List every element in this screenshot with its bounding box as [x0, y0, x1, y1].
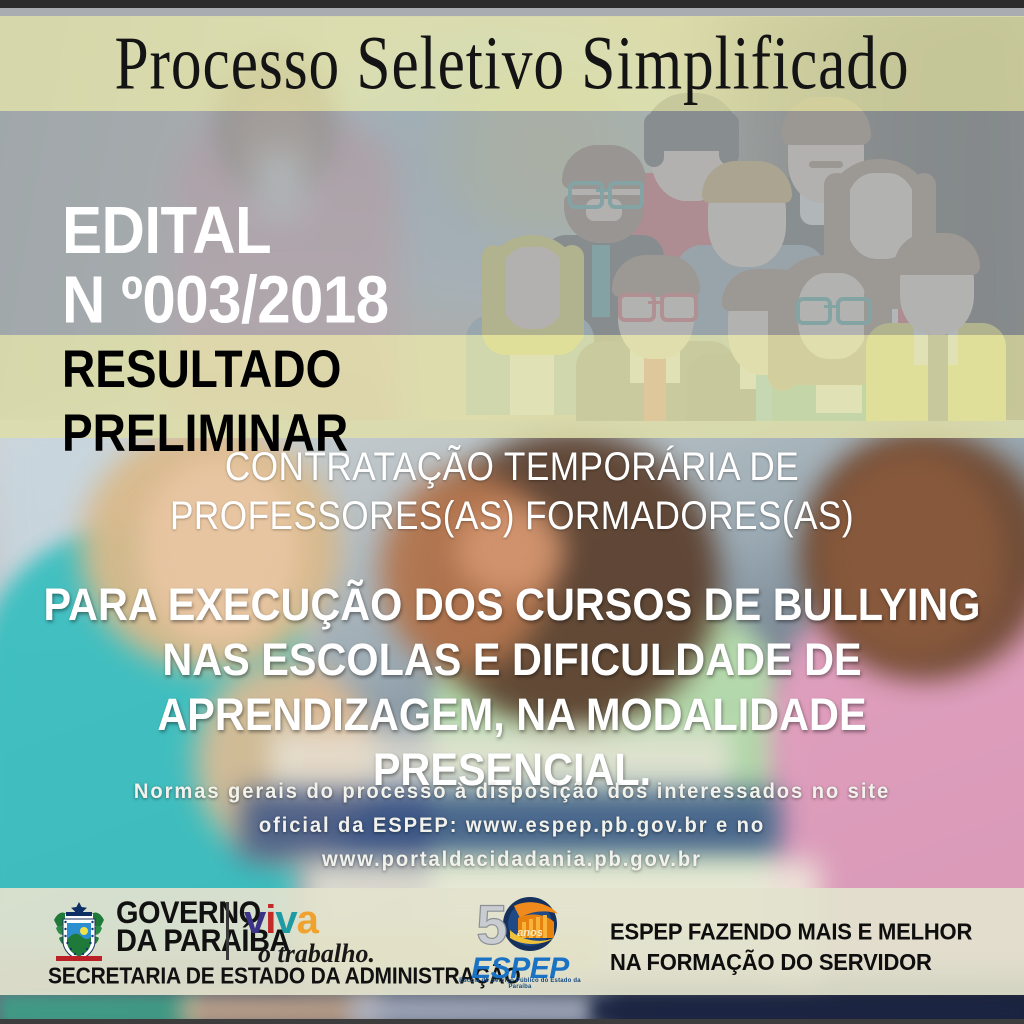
headline-block: PARA EXECUÇÃO DOS CURSOS DE BULLYING NAS…: [41, 578, 983, 798]
resultado-line-1: RESULTADO: [62, 337, 348, 401]
secretaria-label: SECRETARIA DE ESTADO DA ADMINISTRAÇÃO: [48, 964, 521, 990]
edital-line-2: N º003/2018: [62, 265, 389, 334]
poster: Processo Seletivo Simplificado EDITAL N …: [0, 0, 1024, 1024]
espep-tagline-line-1: ESPEP FAZENDO MAIS E MELHOR: [610, 916, 972, 947]
headline-line-1: PARA EXECUÇÃO DOS CURSOS DE BULLYING: [41, 578, 983, 633]
note-line-3: www.portaldacidadania.pb.gov.br: [20, 843, 1003, 877]
espep-subtitle: Escola de Serviço Público do Estado da P…: [458, 978, 582, 990]
note-line-1: Normas gerais do processo à disposição d…: [20, 775, 1003, 809]
espep-tagline: ESPEP FAZENDO MAIS E MELHOR NA FORMAÇÃO …: [610, 916, 972, 978]
legal-note-block: Normas gerais do processo à disposição d…: [20, 775, 1003, 877]
espep-tagline-line-2: NA FORMAÇÃO DO SERVIDOR: [610, 947, 972, 978]
top-dark-strip: [0, 0, 1024, 8]
espep-logo: anos 5 5 ESPEP Escola de Serviço Público…: [458, 894, 582, 992]
note-line-2: oficial da ESPEP: www.espep.pb.gov.br e …: [20, 809, 1003, 843]
svg-text:5: 5: [476, 894, 507, 956]
footer-divider: [226, 902, 229, 960]
page-title: Processo Seletivo Simplificado: [36, 8, 988, 118]
subtitle-line-2: PROFESSORES(AS) FORMADORES(AS): [61, 492, 962, 541]
edital-block: EDITAL N º003/2018: [62, 196, 389, 334]
headline-line-2: NAS ESCOLAS E DIFICULDADE DE: [41, 633, 983, 688]
viva-o-trabalho-logo: viva o trabalho.: [244, 902, 375, 969]
subtitle-line-1: CONTRATAÇÃO TEMPORÁRIA DE: [61, 443, 962, 492]
subtitle-block: CONTRATAÇÃO TEMPORÁRIA DE PROFESSORES(AS…: [61, 443, 962, 541]
paraiba-coat-of-arms-icon: [48, 898, 110, 964]
edital-line-1: EDITAL: [62, 196, 389, 265]
svg-text:anos: anos: [517, 927, 543, 939]
viva-wordmark: viva: [244, 902, 375, 938]
